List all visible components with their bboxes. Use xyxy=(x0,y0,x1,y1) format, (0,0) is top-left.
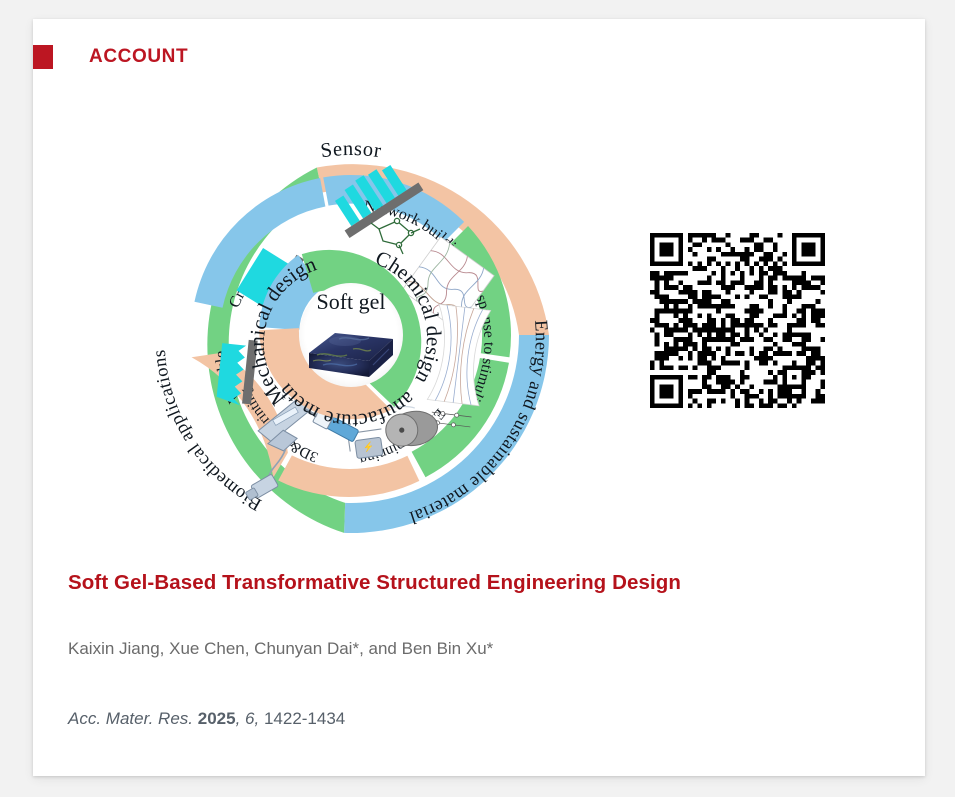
diagram-svg: Sensor Energy and sustainable material B… xyxy=(101,85,601,565)
citation-journal: Acc. Mater. Res. xyxy=(68,709,193,728)
red-square-marker-icon xyxy=(33,45,53,69)
paper-citation: Acc. Mater. Res. 2025, 6, 1422-1434 xyxy=(68,709,888,729)
article-card: ACCOUNT xyxy=(33,19,925,776)
diagram-center-hub: Soft gel xyxy=(299,283,403,387)
citation-volume: 6 xyxy=(245,709,254,728)
paper-authors: Kaixin Jiang, Xue Chen, Chunyan Dai*, an… xyxy=(68,639,888,659)
qr-code-canvas[interactable] xyxy=(650,233,825,408)
soft-gel-concentric-wheel-diagram: Sensor Energy and sustainable material B… xyxy=(101,85,601,565)
citation-comma-1: , xyxy=(236,709,245,728)
outer-label-sensor: Sensor xyxy=(319,138,383,162)
citation-pages: 1422-1434 xyxy=(264,709,345,728)
account-header: ACCOUNT xyxy=(33,45,188,69)
citation-year: 2025 xyxy=(198,709,236,728)
page-title[interactable]: Soft Gel-Based Transformative Structured… xyxy=(68,571,888,595)
center-label-soft-gel: Soft gel xyxy=(316,289,385,314)
account-label: ACCOUNT xyxy=(89,46,188,68)
citation-comma-2: , xyxy=(255,709,264,728)
qr-code[interactable] xyxy=(650,233,825,408)
